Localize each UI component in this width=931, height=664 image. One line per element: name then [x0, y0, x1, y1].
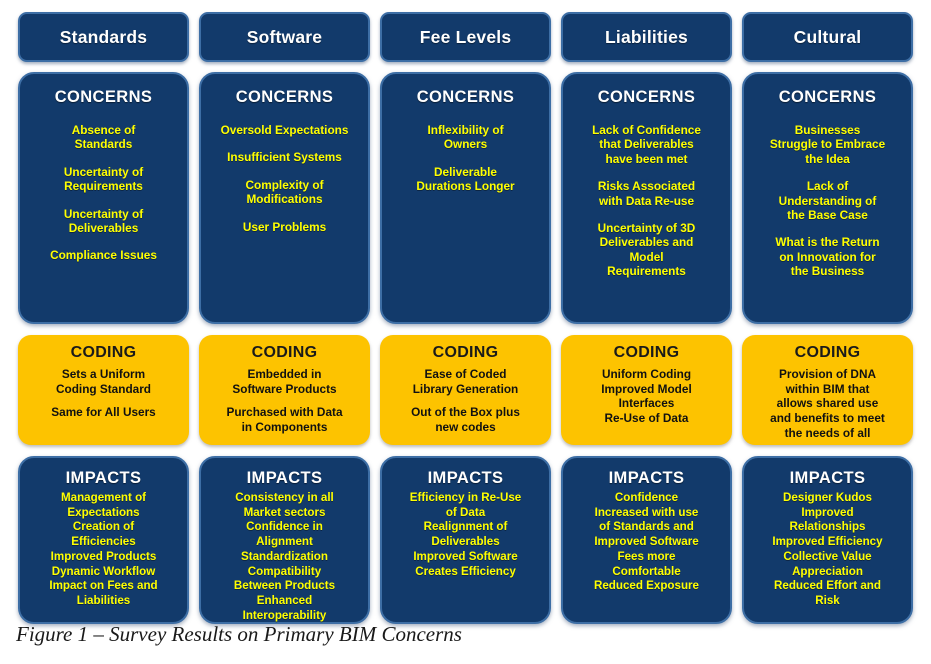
column-fee-levels: Fee Levels CONCERNS Inflexibility of Own… — [380, 12, 551, 624]
coding-item: Sets a Uniform Coding Standard — [24, 367, 183, 396]
coding-item: Provision of DNA within BIM that allows … — [748, 367, 907, 441]
concern-item: Uncertainty of 3D Deliverables and Model… — [571, 221, 722, 279]
concern-item: Deliverable Durations Longer — [390, 165, 541, 194]
coding-item: Ease of Coded Library Generation — [386, 367, 545, 396]
concern-item: Lack of Confidence that Deliverables hav… — [571, 123, 722, 166]
coding-item: Same for All Users — [24, 405, 183, 420]
concerns-card-cultural[interactable]: CONCERNS Businesses Struggle to Embrace … — [742, 72, 913, 324]
concern-item: Compliance Issues — [28, 248, 179, 262]
impacts-card-fee-levels[interactable]: IMPACTS Efficiency in Re-Use of Data Rea… — [380, 456, 551, 624]
concerns-title: CONCERNS — [752, 88, 903, 107]
coding-title: CODING — [567, 344, 726, 362]
concerns-card-software[interactable]: CONCERNS Oversold Expectations Insuffici… — [199, 72, 370, 324]
concern-item: Lack of Understanding of the Base Case — [752, 179, 903, 222]
impacts-list: Management of Expectations Creation of E… — [25, 491, 182, 609]
concern-item: Uncertainty of Requirements — [28, 165, 179, 194]
impacts-title: IMPACTS — [25, 469, 182, 488]
concern-item: Risks Associated with Data Re-use — [571, 179, 722, 208]
concerns-title: CONCERNS — [571, 88, 722, 107]
concerns-card-standards[interactable]: CONCERNS Absence of Standards Uncertaint… — [18, 72, 189, 324]
coding-title: CODING — [24, 344, 183, 362]
coding-item: Out of the Box plus new codes — [386, 405, 545, 434]
coding-card-cultural[interactable]: CODING Provision of DNA within BIM that … — [742, 335, 913, 445]
impacts-card-software[interactable]: IMPACTS Consistency in all Market sector… — [199, 456, 370, 624]
coding-title: CODING — [386, 344, 545, 362]
column-header-standards[interactable]: Standards — [18, 12, 189, 62]
concerns-title: CONCERNS — [28, 88, 179, 107]
column-software: Software CONCERNS Oversold Expectations … — [199, 12, 370, 624]
concern-item: What is the Return on Innovation for the… — [752, 235, 903, 278]
concern-item: Uncertainty of Deliverables — [28, 207, 179, 236]
impacts-card-liabilities[interactable]: IMPACTS Confidence Increased with use of… — [561, 456, 732, 624]
concern-item: Inflexibility of Owners — [390, 123, 541, 152]
column-standards: Standards CONCERNS Absence of Standards … — [18, 12, 189, 624]
concern-item: User Problems — [209, 220, 360, 234]
impacts-card-cultural[interactable]: IMPACTS Designer Kudos Improved Relation… — [742, 456, 913, 624]
impacts-list: Consistency in all Market sectors Confid… — [206, 491, 363, 623]
column-header-label: Cultural — [794, 27, 862, 48]
concern-item: Oversold Expectations — [209, 123, 360, 137]
column-liabilities: Liabilities CONCERNS Lack of Confidence … — [561, 12, 732, 624]
coding-title: CODING — [205, 344, 364, 362]
concerns-title: CONCERNS — [209, 88, 360, 107]
concerns-card-fee-levels[interactable]: CONCERNS Inflexibility of Owners Deliver… — [380, 72, 551, 324]
coding-item: Embedded in Software Products — [205, 367, 364, 396]
impacts-list: Efficiency in Re-Use of Data Realignment… — [387, 491, 544, 579]
coding-card-software[interactable]: CODING Embedded in Software Products Pur… — [199, 335, 370, 445]
column-header-fee-levels[interactable]: Fee Levels — [380, 12, 551, 62]
column-header-software[interactable]: Software — [199, 12, 370, 62]
concerns-card-liabilities[interactable]: CONCERNS Lack of Confidence that Deliver… — [561, 72, 732, 324]
impacts-title: IMPACTS — [387, 469, 544, 488]
concerns-matrix: Standards CONCERNS Absence of Standards … — [18, 12, 913, 624]
column-header-cultural[interactable]: Cultural — [742, 12, 913, 62]
impacts-title: IMPACTS — [749, 469, 906, 488]
figure-caption: Figure 1 – Survey Results on Primary BIM… — [16, 622, 462, 647]
bim-concerns-figure: Standards CONCERNS Absence of Standards … — [0, 0, 931, 664]
coding-card-fee-levels[interactable]: CODING Ease of Coded Library Generation … — [380, 335, 551, 445]
concern-item: Insufficient Systems — [209, 150, 360, 164]
impacts-card-standards[interactable]: IMPACTS Management of Expectations Creat… — [18, 456, 189, 624]
concern-item: Businesses Struggle to Embrace the Idea — [752, 123, 903, 166]
coding-card-standards[interactable]: CODING Sets a Uniform Coding Standard Sa… — [18, 335, 189, 445]
impacts-list: Designer Kudos Improved Relationships Im… — [749, 491, 906, 609]
impacts-list: Confidence Increased with use of Standar… — [568, 491, 725, 594]
coding-card-liabilities[interactable]: CODING Uniform Coding Improved Model Int… — [561, 335, 732, 445]
impacts-title: IMPACTS — [568, 469, 725, 488]
column-cultural: Cultural CONCERNS Businesses Struggle to… — [742, 12, 913, 624]
concern-item: Complexity of Modifications — [209, 178, 360, 207]
concerns-title: CONCERNS — [390, 88, 541, 107]
coding-item: Uniform Coding Improved Model Interfaces… — [567, 367, 726, 426]
column-header-liabilities[interactable]: Liabilities — [561, 12, 732, 62]
column-header-label: Standards — [60, 27, 147, 48]
concern-item: Absence of Standards — [28, 123, 179, 152]
impacts-title: IMPACTS — [206, 469, 363, 488]
column-header-label: Liabilities — [605, 27, 688, 48]
coding-title: CODING — [748, 344, 907, 362]
column-header-label: Software — [247, 27, 323, 48]
coding-item: Purchased with Data in Components — [205, 405, 364, 434]
column-header-label: Fee Levels — [420, 27, 512, 48]
